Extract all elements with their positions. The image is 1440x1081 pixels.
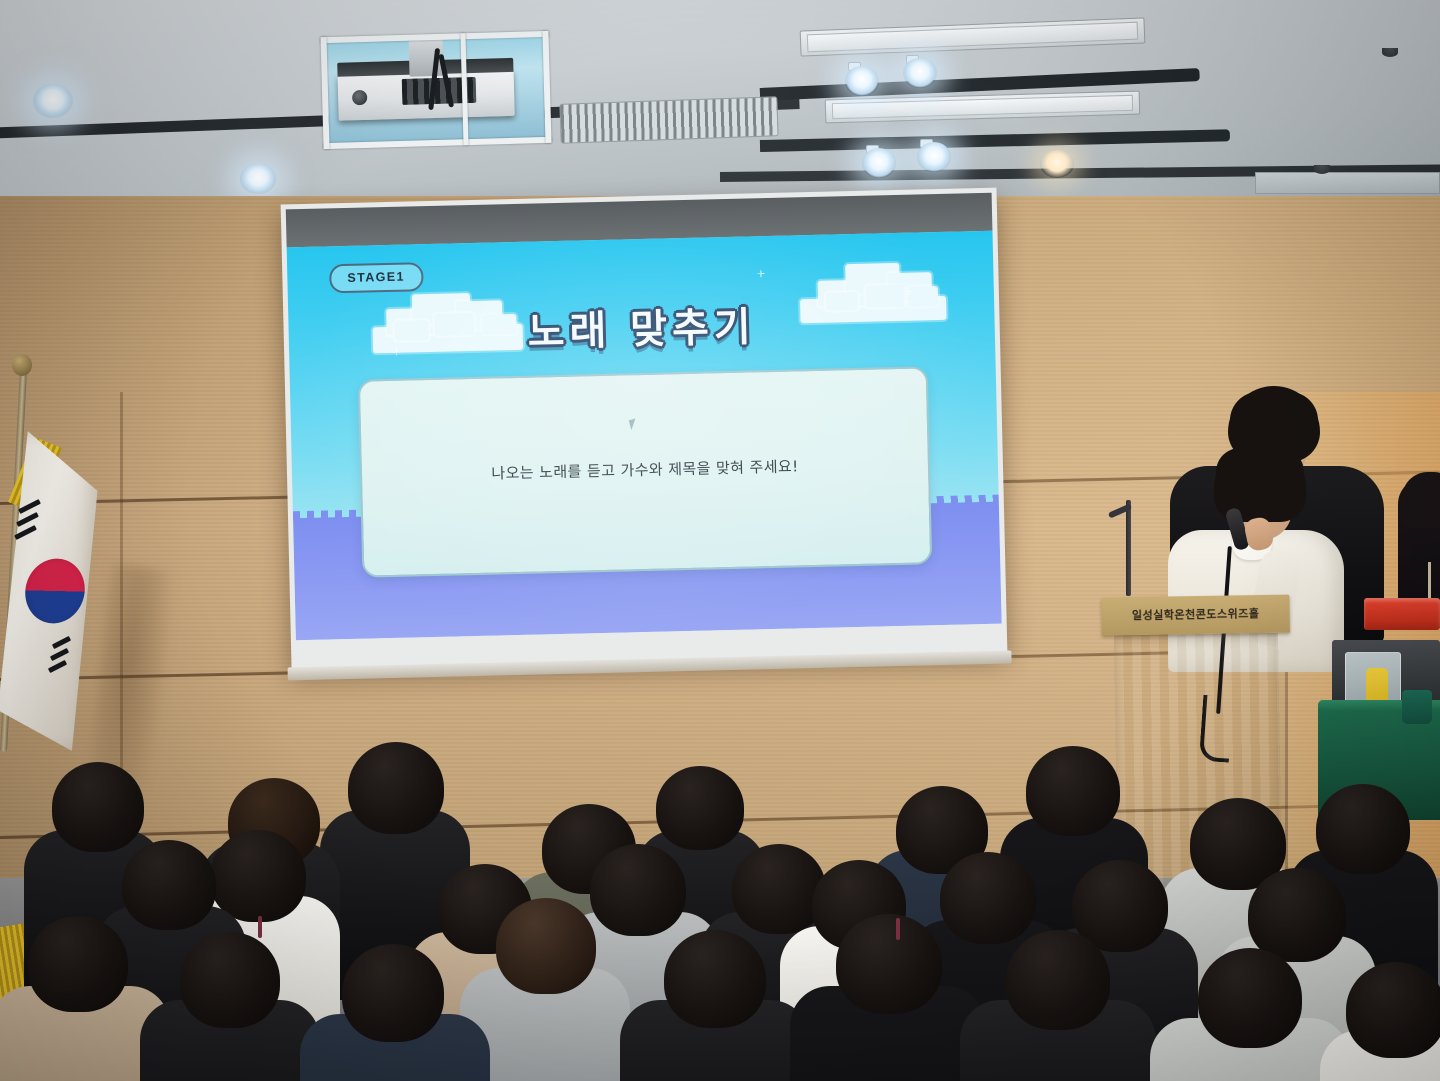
- audience: ell: [0, 700, 1440, 1081]
- projector-lens-icon: [352, 90, 367, 105]
- projection-screen: STAGE1 노래 맞추기 나오는 노래를 듣고 가수와 제목을 맞혀 주세요!: [281, 188, 1008, 669]
- audience-head: [836, 914, 942, 1014]
- spotlight: [862, 148, 896, 178]
- mouse-cursor-icon: [629, 419, 638, 430]
- ceiling-rail: [760, 129, 1230, 152]
- hair-fringe: [1230, 392, 1318, 432]
- south-korea-flag: [0, 352, 114, 752]
- spotlight: [903, 58, 937, 88]
- ceiling-panel: [1255, 172, 1440, 194]
- spotlight: [33, 84, 73, 118]
- spotlight: [917, 142, 951, 172]
- smoke-detector-icon: [1314, 165, 1330, 174]
- spotlight: [845, 66, 879, 96]
- projector-cage: [320, 31, 551, 149]
- ceiling-projector: [338, 70, 515, 121]
- stage-badge: STAGE1: [329, 262, 423, 293]
- presentation-slide: STAGE1 노래 맞추기 나오는 노래를 듣고 가수와 제목을 맞혀 주세요!: [287, 231, 1002, 641]
- audience-head: [940, 852, 1036, 944]
- ceiling: [0, 0, 1440, 205]
- audience-head: [1346, 962, 1440, 1058]
- audience-head: [180, 932, 280, 1028]
- lanyard: [258, 916, 262, 938]
- hair: [1402, 472, 1440, 528]
- audience-head: [1026, 746, 1120, 836]
- audience-head: [210, 830, 306, 922]
- lanyard: [896, 918, 900, 940]
- slide-content-card: 나오는 노래를 듣고 가수와 제목을 맞혀 주세요!: [358, 366, 933, 577]
- audience-head: [732, 844, 826, 934]
- slide-body-text: 나오는 노래를 듣고 가수와 제목을 맞혀 주세요!: [362, 452, 928, 486]
- downlight: [1040, 150, 1074, 178]
- flag-finial-icon: [12, 354, 32, 376]
- podium-label: 일성실학온천콘도스위즈홀: [1116, 605, 1276, 624]
- audience-head: [496, 898, 596, 994]
- air-vent: [559, 96, 778, 144]
- ceiling-light-panel: [800, 17, 1146, 56]
- hair-fringe: [1216, 448, 1304, 484]
- microphone-stand: [1126, 500, 1131, 596]
- audience-head: [1248, 868, 1346, 962]
- sparkle-icon: [757, 270, 764, 277]
- red-crate: [1364, 598, 1440, 630]
- podium-top: 일성실학온천콘도스위즈홀: [1101, 595, 1290, 636]
- smoke-detector-icon: [1382, 48, 1398, 57]
- spotlight: [240, 164, 276, 194]
- audience-head: [664, 930, 766, 1028]
- audience-head: [1198, 948, 1302, 1048]
- audience-head: [656, 766, 744, 850]
- audience-head: [590, 844, 686, 936]
- audience-head: [1316, 784, 1410, 874]
- slide-title: 노래 맞추기: [288, 289, 995, 364]
- audience-head: [1006, 930, 1110, 1030]
- auditorium-scene: STAGE1 노래 맞추기 나오는 노래를 듣고 가수와 제목을 맞혀 주세요!: [0, 0, 1440, 1081]
- audience-head: [348, 742, 444, 834]
- audience-head: [52, 762, 144, 852]
- audience-head: [122, 840, 216, 930]
- audience-head: [342, 944, 444, 1042]
- audience-head: [28, 916, 128, 1012]
